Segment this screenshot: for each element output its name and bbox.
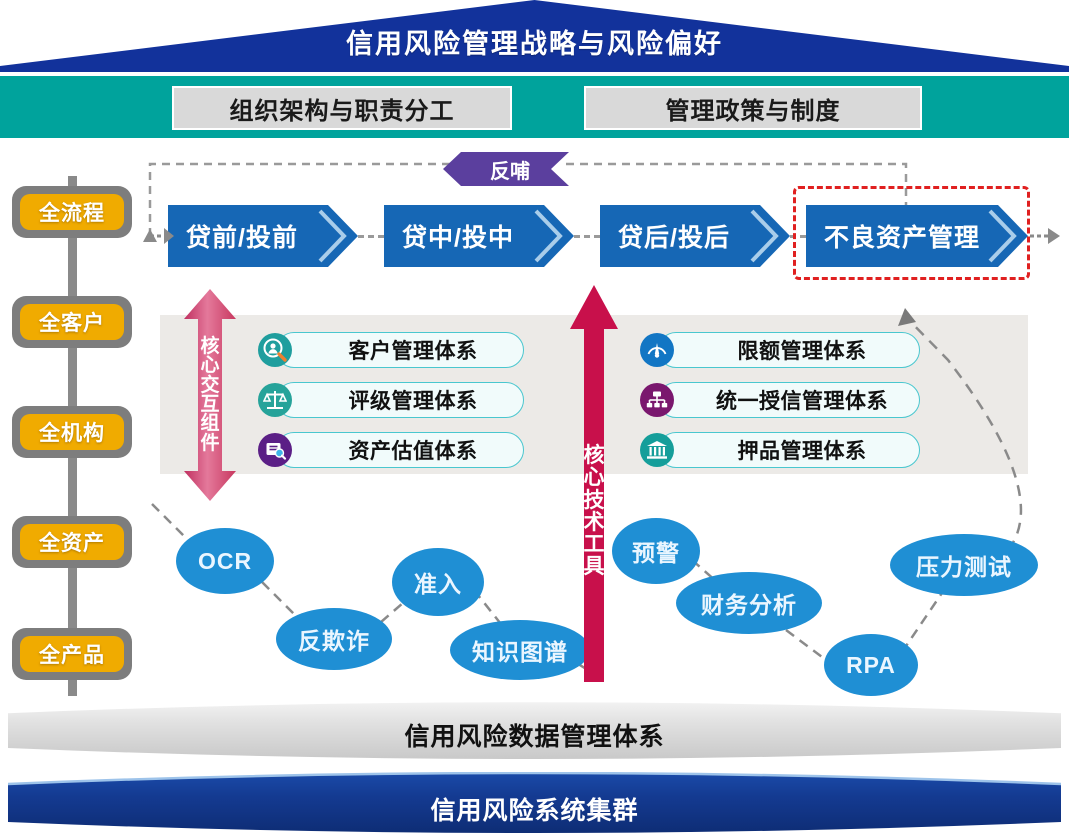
process-stage-daihou[interactable]: 贷后/投后 — [600, 205, 790, 267]
tool-label: 压力测试 — [916, 548, 1012, 582]
core-interaction-arrow-label: 核 心 交 互 组 件 — [184, 319, 236, 471]
component-label: 限额管理体系 — [712, 335, 867, 365]
tool-bubble-antifraud[interactable]: 反欺诈 — [276, 608, 392, 670]
dimension-item-quanjigou[interactable]: 全机构 — [12, 406, 132, 458]
feedback-banner-label: 反哺 — [443, 152, 569, 186]
dimension-item-quankehu[interactable]: 全客户 — [12, 296, 132, 348]
system-layer-band: 信用风险系统集群 — [8, 772, 1061, 834]
tool-label: OCR — [198, 548, 252, 575]
component-label: 评级管理体系 — [323, 385, 478, 415]
process-stage-label: 贷中/投中 — [384, 218, 514, 254]
chip-organization-label: 组织架构与职责分工 — [230, 91, 455, 126]
diagram-canvas: 信用风险管理战略与风险偏好 组织架构与职责分工 管理政策与制度 全流程 全客户 … — [0, 0, 1069, 840]
process-stage-label: 不良资产管理 — [806, 218, 980, 254]
process-stage-daiqian[interactable]: 贷前/投前 — [168, 205, 358, 267]
tool-bubble-ocr[interactable]: OCR — [176, 528, 274, 594]
core-interaction-arrow: 核 心 交 互 组 件 — [184, 289, 236, 501]
gauge-icon — [640, 333, 674, 367]
tool-label: 预警 — [632, 534, 680, 568]
component-customer-management[interactable]: 客户管理体系 — [258, 332, 524, 368]
dimension-label: 全流程 — [20, 194, 124, 230]
document-search-icon — [258, 433, 292, 467]
dimension-item-quanzichan[interactable]: 全资产 — [12, 516, 132, 568]
feedback-banner[interactable]: 反哺 — [443, 152, 569, 186]
dimension-label: 全客户 — [20, 304, 124, 340]
component-label: 资产估值体系 — [323, 435, 478, 465]
org-network-icon — [640, 383, 674, 417]
component-label: 统一授信管理体系 — [690, 385, 888, 415]
tool-bubble-early-warning[interactable]: 预警 — [612, 518, 700, 584]
chip-policy[interactable]: 管理政策与制度 — [584, 86, 922, 130]
tool-label: RPA — [846, 652, 896, 679]
process-stage-daizhong[interactable]: 贷中/投中 — [384, 205, 574, 267]
tool-bubble-access[interactable]: 准入 — [392, 548, 484, 616]
tool-bubble-rpa[interactable]: RPA — [824, 634, 918, 696]
process-stage-label: 贷后/投后 — [600, 218, 730, 254]
data-layer-band: 信用风险数据管理体系 — [8, 700, 1061, 760]
core-technology-arrow-label: 核 心 技 术 工 具 — [570, 445, 618, 579]
dimension-label: 全机构 — [20, 414, 124, 450]
process-entry-arrow — [150, 224, 176, 248]
system-layer-label: 信用风险系统集群 — [8, 791, 1061, 827]
scales-icon — [258, 383, 292, 417]
component-asset-valuation[interactable]: 资产估值体系 — [258, 432, 524, 468]
data-layer-label: 信用风险数据管理体系 — [8, 717, 1061, 753]
component-collateral-management[interactable]: 押品管理体系 — [640, 432, 920, 468]
chip-organization[interactable]: 组织架构与职责分工 — [172, 86, 512, 130]
tool-label: 准入 — [414, 565, 462, 599]
dimension-item-quanchanpin[interactable]: 全产品 — [12, 628, 132, 680]
component-label: 押品管理体系 — [712, 435, 867, 465]
core-technology-arrow: 核 心 技 术 工 具 — [570, 285, 618, 682]
dimension-label: 全资产 — [20, 524, 124, 560]
chip-policy-label: 管理政策与制度 — [666, 91, 841, 126]
tool-label: 财务分析 — [701, 586, 797, 620]
tool-label: 反欺诈 — [298, 622, 370, 656]
tool-bubble-knowledge-graph[interactable]: 知识图谱 — [450, 620, 590, 680]
tool-label: 知识图谱 — [472, 633, 568, 667]
tool-bubble-stress-test[interactable]: 压力测试 — [890, 534, 1038, 596]
component-limit-management[interactable]: 限额管理体系 — [640, 332, 920, 368]
component-unified-credit[interactable]: 统一授信管理体系 — [640, 382, 920, 418]
process-stage-label: 贷前/投前 — [168, 218, 298, 254]
customer-magnifier-icon — [258, 333, 292, 367]
dimension-label: 全产品 — [20, 636, 124, 672]
dimension-item-quanliucheng[interactable]: 全流程 — [12, 186, 132, 238]
roof-title: 信用风险管理战略与风险偏好 — [0, 22, 1069, 61]
process-exit-arrow — [1030, 224, 1064, 248]
component-label: 客户管理体系 — [323, 335, 478, 365]
tool-bubble-financial-analysis[interactable]: 财务分析 — [676, 572, 822, 634]
bank-building-icon — [640, 433, 674, 467]
component-rating-management[interactable]: 评级管理体系 — [258, 382, 524, 418]
